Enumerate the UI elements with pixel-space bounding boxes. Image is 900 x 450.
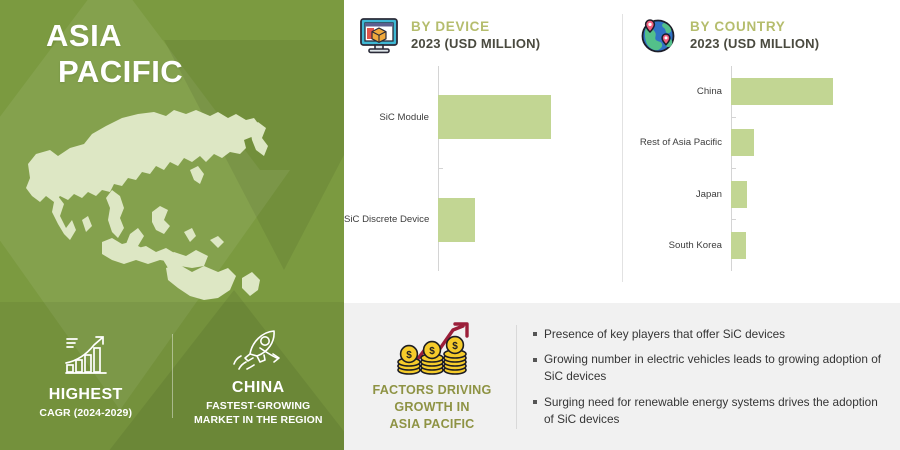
region-title-line1: ASIA <box>46 18 122 53</box>
svg-text:$: $ <box>452 341 458 352</box>
factors-bullet-list: Presence of key players that offer SiC d… <box>533 326 900 428</box>
monitor-package-icon <box>358 14 400 56</box>
chart-by-device: BY DEVICE 2023 (USD MILLION) SiC Module … <box>344 0 622 303</box>
bullet-text: Growing number in electric vehicles lead… <box>544 351 886 385</box>
factors-caption-line2: GROWTH IN <box>350 399 514 416</box>
chart-header-text: BY DEVICE 2023 (USD MILLION) <box>411 17 540 53</box>
chart-header-text: BY COUNTRY 2023 (USD MILLION) <box>690 17 819 53</box>
stat-title: HIGHEST <box>6 386 166 404</box>
chart-subheading: 2023 (USD MILLION) <box>411 35 540 53</box>
bar-rows: SiC Module SiC Discrete Device <box>344 66 622 271</box>
asia-pacific-map-icon <box>14 92 330 304</box>
region-panel: ASIA PACIFIC <box>0 0 344 450</box>
svg-text:$: $ <box>429 346 435 357</box>
chart-header: BY DEVICE 2023 (USD MILLION) <box>344 0 622 56</box>
factors-panel: $ $ $ FACTORS DRIVING GROWTH IN ASIA PAC… <box>344 303 900 450</box>
svg-text:$: $ <box>406 350 412 361</box>
bar-row: China <box>623 66 900 117</box>
bar-sic-module <box>438 95 551 139</box>
stat-highest-cagr: HIGHEST CAGR (2024-2029) <box>0 331 172 421</box>
factors-caption: FACTORS DRIVING GROWTH IN ASIA PACIFIC <box>350 382 514 432</box>
chart-heading: BY DEVICE <box>411 19 540 35</box>
bullet-text: Presence of key players that offer SiC d… <box>544 326 785 343</box>
stat-china-fastest: CHINA FASTEST-GROWING MARKET IN THE REGI… <box>173 324 345 428</box>
factors-caption-line3: ASIA PACIFIC <box>350 416 514 433</box>
bar-china <box>731 78 833 105</box>
stat-subtitle-line2: MARKET IN THE REGION <box>179 414 339 428</box>
bar-row: SiC Discrete Device <box>344 169 622 272</box>
bar-sic-discrete-device <box>438 198 475 242</box>
bar-japan <box>731 181 747 208</box>
chart-header: BY COUNTRY 2023 (USD MILLION) <box>623 0 900 56</box>
bar-row: Rest of Asia Pacific <box>623 117 900 168</box>
list-item: Surging need for renewable energy system… <box>533 394 886 428</box>
infographic-board: ASIA PACIFIC <box>0 0 900 450</box>
bar-rows: China Rest of Asia Pacific Japan South K… <box>623 66 900 271</box>
factors-caption-block: $ $ $ FACTORS DRIVING GROWTH IN ASIA PAC… <box>344 320 514 432</box>
bar-label: China <box>623 86 731 97</box>
stat-subtitle: FASTEST-GROWING MARKET IN THE REGION <box>179 400 339 428</box>
bullet-text: Surging need for renewable energy system… <box>544 394 886 428</box>
device-plot: SiC Module SiC Discrete Device <box>344 66 622 271</box>
chart-subheading: 2023 (USD MILLION) <box>690 35 819 53</box>
globe-pins-icon <box>637 14 679 56</box>
list-item: Growing number in electric vehicles lead… <box>533 351 886 385</box>
growth-chart-icon <box>6 331 166 377</box>
region-stats-band: HIGHEST CAGR (2024-2029) <box>0 302 344 450</box>
factors-caption-line1: FACTORS DRIVING <box>350 382 514 399</box>
region-title: ASIA PACIFIC <box>46 18 183 91</box>
bar-rest-of-asia-pacific <box>731 129 754 156</box>
charts-area: BY DEVICE 2023 (USD MILLION) SiC Module … <box>344 0 900 303</box>
bar-row: South Korea <box>623 220 900 271</box>
region-title-line2: PACIFIC <box>46 54 183 90</box>
bar-label: South Korea <box>623 240 731 251</box>
coins-growth-icon: $ $ $ <box>350 320 514 376</box>
bar-label: SiC Module <box>344 112 438 123</box>
factors-divider <box>516 325 517 429</box>
bar-row: Japan <box>623 169 900 220</box>
country-plot: China Rest of Asia Pacific Japan South K… <box>623 66 900 271</box>
bar-label: Rest of Asia Pacific <box>623 137 731 148</box>
bar-row: SiC Module <box>344 66 622 169</box>
stat-title: CHINA <box>179 379 339 397</box>
bullet-square-icon <box>533 332 537 336</box>
bullet-square-icon <box>533 358 537 362</box>
bar-label: SiC Discrete Device <box>344 214 438 225</box>
rocket-icon <box>179 324 339 370</box>
bar-label: Japan <box>623 189 731 200</box>
chart-by-country: BY COUNTRY 2023 (USD MILLION) China Rest… <box>623 0 900 303</box>
stat-subtitle-line1: FASTEST-GROWING <box>179 400 339 414</box>
stat-subtitle: CAGR (2024-2029) <box>6 407 166 421</box>
bullet-square-icon <box>533 400 537 404</box>
list-item: Presence of key players that offer SiC d… <box>533 326 886 343</box>
chart-heading: BY COUNTRY <box>690 19 819 35</box>
bar-south-korea <box>731 232 746 259</box>
